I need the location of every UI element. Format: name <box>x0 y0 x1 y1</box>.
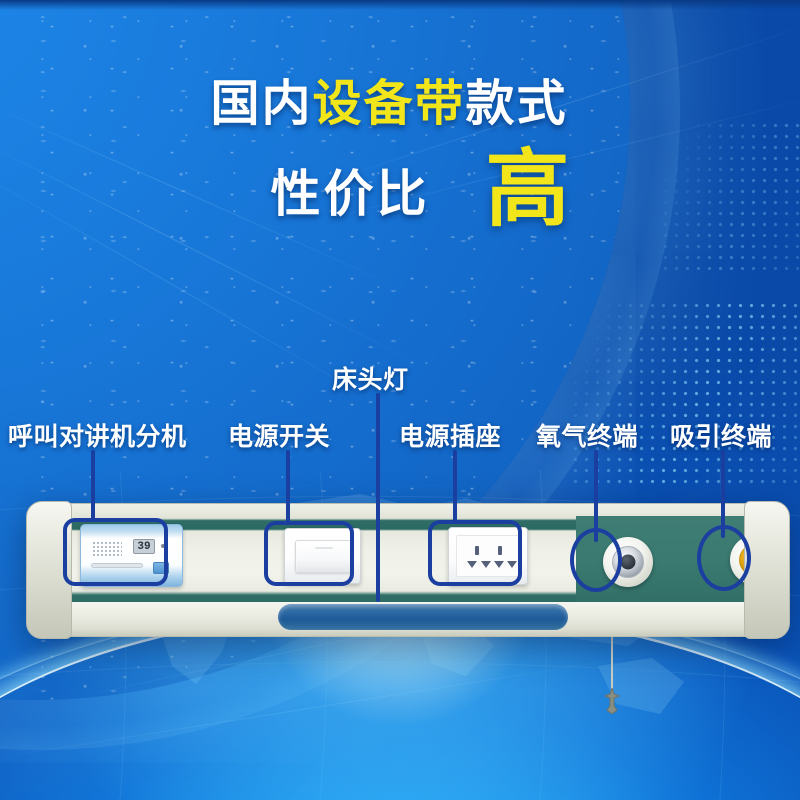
top-shadow-bar <box>0 0 800 10</box>
highlight-box-power-switch <box>264 521 354 586</box>
headline-line-2: 性价比 高 <box>0 150 800 230</box>
oxygen-terminal-core <box>621 555 636 570</box>
label-oxygen: 氧气终端 <box>536 417 638 453</box>
product-banner: 国内设备带款式 性价比 高 呼叫对讲机分机 电源开关 床头灯 电源插座 氧气终端… <box>0 0 800 800</box>
highlight-box-intercom <box>63 518 168 586</box>
label-power-switch: 电源开关 <box>228 417 330 453</box>
pull-cord-handle-icon[interactable] <box>603 688 621 714</box>
highlight-circle-suction <box>697 525 751 591</box>
panel-end-cap-right <box>744 501 790 639</box>
label-intercom: 呼叫对讲机分机 <box>8 417 187 453</box>
headline-line1-part1: 国内 <box>210 77 312 131</box>
headline-line1-part2: 款式 <box>466 77 568 131</box>
headline-line1-highlight: 设备带 <box>312 77 465 131</box>
highlight-circle-oxygen <box>570 528 622 592</box>
highlight-box-power-socket <box>428 520 522 586</box>
halftone-dot-pattern <box>570 300 800 490</box>
headline-value-phrase: 性价比 <box>270 154 429 226</box>
headline-block: 国内设备带款式 性价比 高 <box>0 78 800 230</box>
label-power-socket: 电源插座 <box>399 417 501 453</box>
headline-emphasis-word: 高 <box>485 150 569 230</box>
label-bedlamp: 床头灯 <box>332 360 409 396</box>
bedlamp-diffuser <box>278 604 568 630</box>
label-suction: 吸引终端 <box>670 417 772 453</box>
headline-line-1: 国内设备带款式 <box>0 78 800 132</box>
